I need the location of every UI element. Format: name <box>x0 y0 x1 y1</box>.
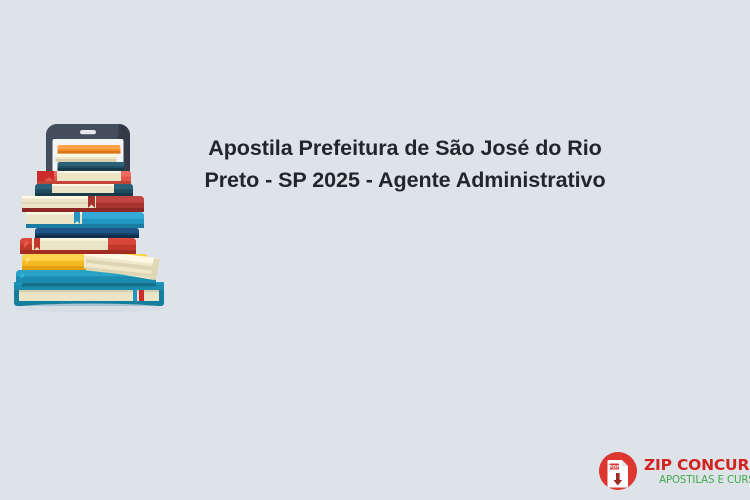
book-navy-top <box>58 162 125 171</box>
book-cream-top <box>56 153 117 162</box>
book-maroon <box>22 196 144 212</box>
product-banner: Apostila Prefeitura de São José do Rio P… <box>0 0 750 500</box>
book-orange-top <box>58 145 121 154</box>
book-blue-cyan <box>26 212 144 228</box>
brand-logo[interactable]: PDF ZIP CONCURSOS APOSTILAS E CURSOS <box>597 448 745 494</box>
book-navy-thin <box>35 228 139 238</box>
book-red-mid <box>20 238 136 254</box>
book-navy-second <box>35 184 133 196</box>
pdf-download-icon: PDF <box>597 450 639 492</box>
title-block: Apostila Prefeitura de São José do Rio P… <box>182 132 628 196</box>
book-red-upper <box>37 171 131 184</box>
brand-wordmark: ZIP CONCURSOS APOSTILAS E CURSOS <box>644 456 750 487</box>
svg-text:PDF: PDF <box>609 464 619 470</box>
brand-name: ZIP CONCURSOS <box>644 457 750 474</box>
page-title: Apostila Prefeitura de São José do Rio P… <box>182 132 628 196</box>
stack-of-books-with-tablet-illustration <box>8 118 178 318</box>
brand-tagline: APOSTILAS E CURSOS <box>644 474 750 487</box>
